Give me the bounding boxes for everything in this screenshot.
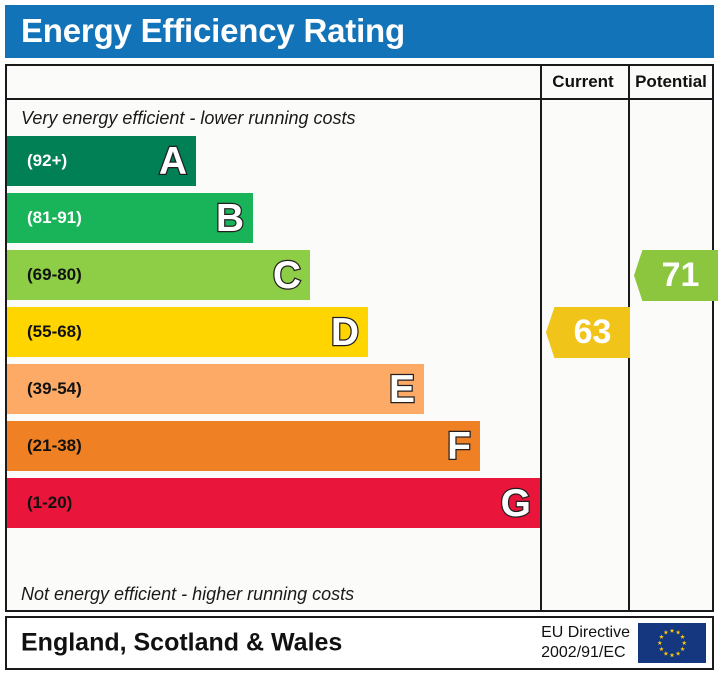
current-rating-marker: 63 [546, 307, 630, 358]
band-row-b: (81-91)B [7, 193, 253, 243]
band-range-label: (21-38) [27, 436, 82, 456]
band-range-label: (81-91) [27, 208, 82, 228]
band-row-g: (1-20)G [7, 478, 540, 528]
energy-efficiency-rating-chart: Energy Efficiency Rating Current Potenti… [0, 0, 719, 675]
footer: England, Scotland & Wales EU Directive 2… [5, 616, 714, 670]
directive-line-1: EU Directive [541, 623, 630, 643]
band-range-label: (55-68) [27, 322, 82, 342]
band-letter-f: F [447, 427, 471, 466]
band-row-d: (55-68)D [7, 307, 368, 357]
band-row-a: (92+)A [7, 136, 196, 186]
band-row-c: (69-80)C [7, 250, 310, 300]
band-row-f: (21-38)F [7, 421, 480, 471]
band-range-label: (69-80) [27, 265, 82, 285]
page-title: Energy Efficiency Rating [21, 12, 405, 50]
column-header-row: Current Potential [7, 66, 712, 100]
band-letter-d: D [331, 313, 359, 352]
column-divider-current [540, 66, 542, 610]
current-rating-value: 63 [574, 313, 612, 352]
rating-table: Current Potential Very energy efficient … [5, 64, 714, 612]
footer-region-label: England, Scotland & Wales [21, 629, 342, 658]
band-row-e: (39-54)E [7, 364, 424, 414]
band-letter-b: B [216, 199, 244, 238]
band-letter-g: G [501, 484, 531, 523]
directive-line-2: 2002/91/EC [541, 643, 630, 663]
eu-flag-icon [638, 623, 706, 663]
band-range-label: (92+) [27, 151, 67, 171]
band-range-label: (39-54) [27, 379, 82, 399]
potential-rating-marker: 71 [634, 250, 718, 301]
potential-rating-value: 71 [662, 256, 700, 295]
caption-inefficient: Not energy efficient - higher running co… [7, 576, 540, 612]
column-header-current: Current [540, 66, 626, 98]
band-list: (92+)A(81-91)B(69-80)C(55-68)D(39-54)E(2… [7, 136, 540, 576]
band-range-label: (1-20) [27, 493, 72, 513]
band-letter-c: C [273, 256, 301, 295]
column-header-potential: Potential [628, 66, 714, 98]
band-letter-e: E [389, 370, 415, 409]
caption-efficient: Very energy efficient - lower running co… [7, 100, 540, 136]
band-letter-a: A [159, 142, 187, 181]
footer-directive: EU Directive 2002/91/EC [541, 623, 630, 663]
title-bar: Energy Efficiency Rating [5, 5, 714, 58]
